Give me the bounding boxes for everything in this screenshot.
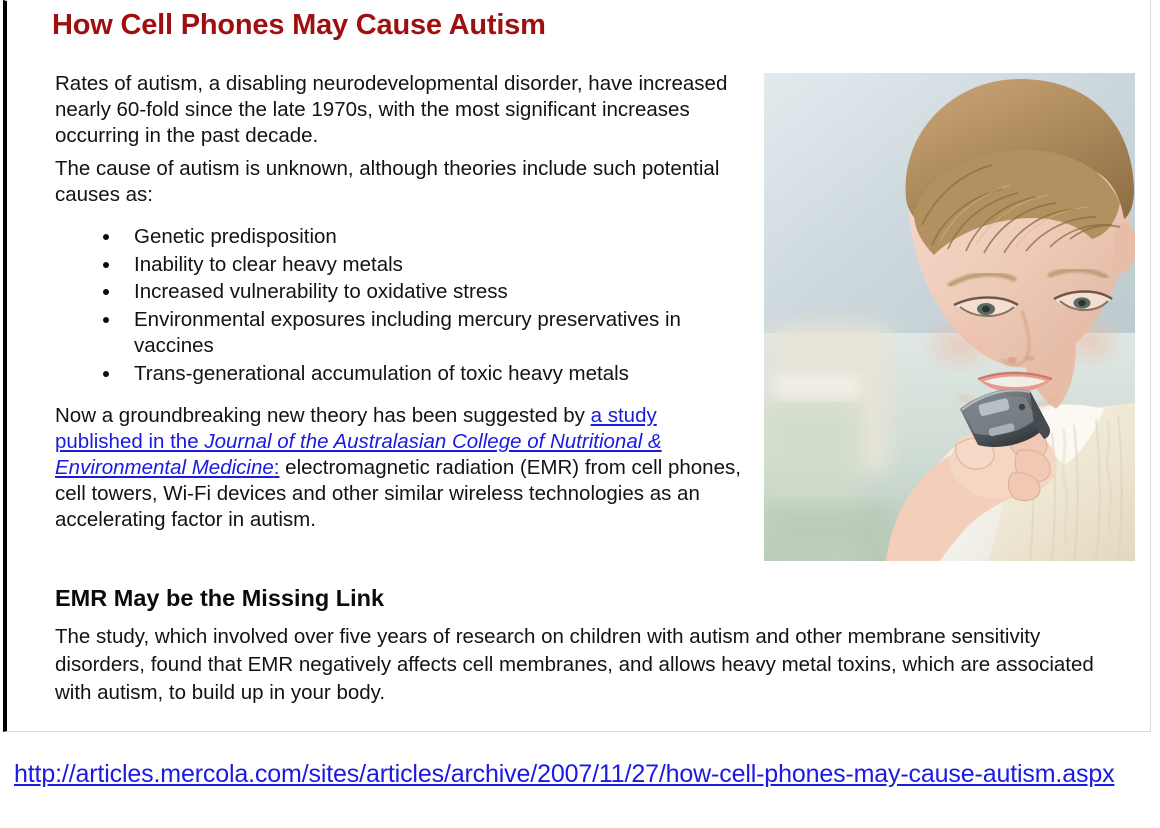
- left-text-column: Rates of autism, a disabling neurodevelo…: [55, 71, 750, 540]
- page-title: How Cell Phones May Cause Autism: [52, 9, 546, 42]
- theory-paragraph: Now a groundbreaking new theory has been…: [55, 403, 750, 533]
- list-item: Environmental exposures including mercur…: [101, 307, 750, 360]
- boy-with-cellphone-photo: [764, 73, 1135, 561]
- slide-content-frame: How Cell Phones May Cause Autism Rates o…: [3, 0, 1151, 732]
- closing-paragraph: The study, which involved over five year…: [55, 623, 1110, 707]
- list-item: Trans-generational accumulation of toxic…: [101, 361, 750, 388]
- list-item: Genetic predisposition: [101, 224, 750, 251]
- list-item: Increased vulnerability to oxidative str…: [101, 279, 750, 306]
- potential-causes-list: Genetic predisposition Inability to clea…: [55, 224, 750, 387]
- source-url-link[interactable]: http://articles.mercola.com/sites/articl…: [14, 760, 1114, 789]
- list-item: Inability to clear heavy metals: [101, 252, 750, 279]
- intro-paragraph: Rates of autism, a disabling neurodevelo…: [55, 71, 750, 149]
- cause-paragraph: The cause of autism is unknown, although…: [55, 156, 750, 208]
- theory-lead-text: Now a groundbreaking new theory has been…: [55, 404, 591, 427]
- section-heading-emr: EMR May be the Missing Link: [55, 585, 384, 612]
